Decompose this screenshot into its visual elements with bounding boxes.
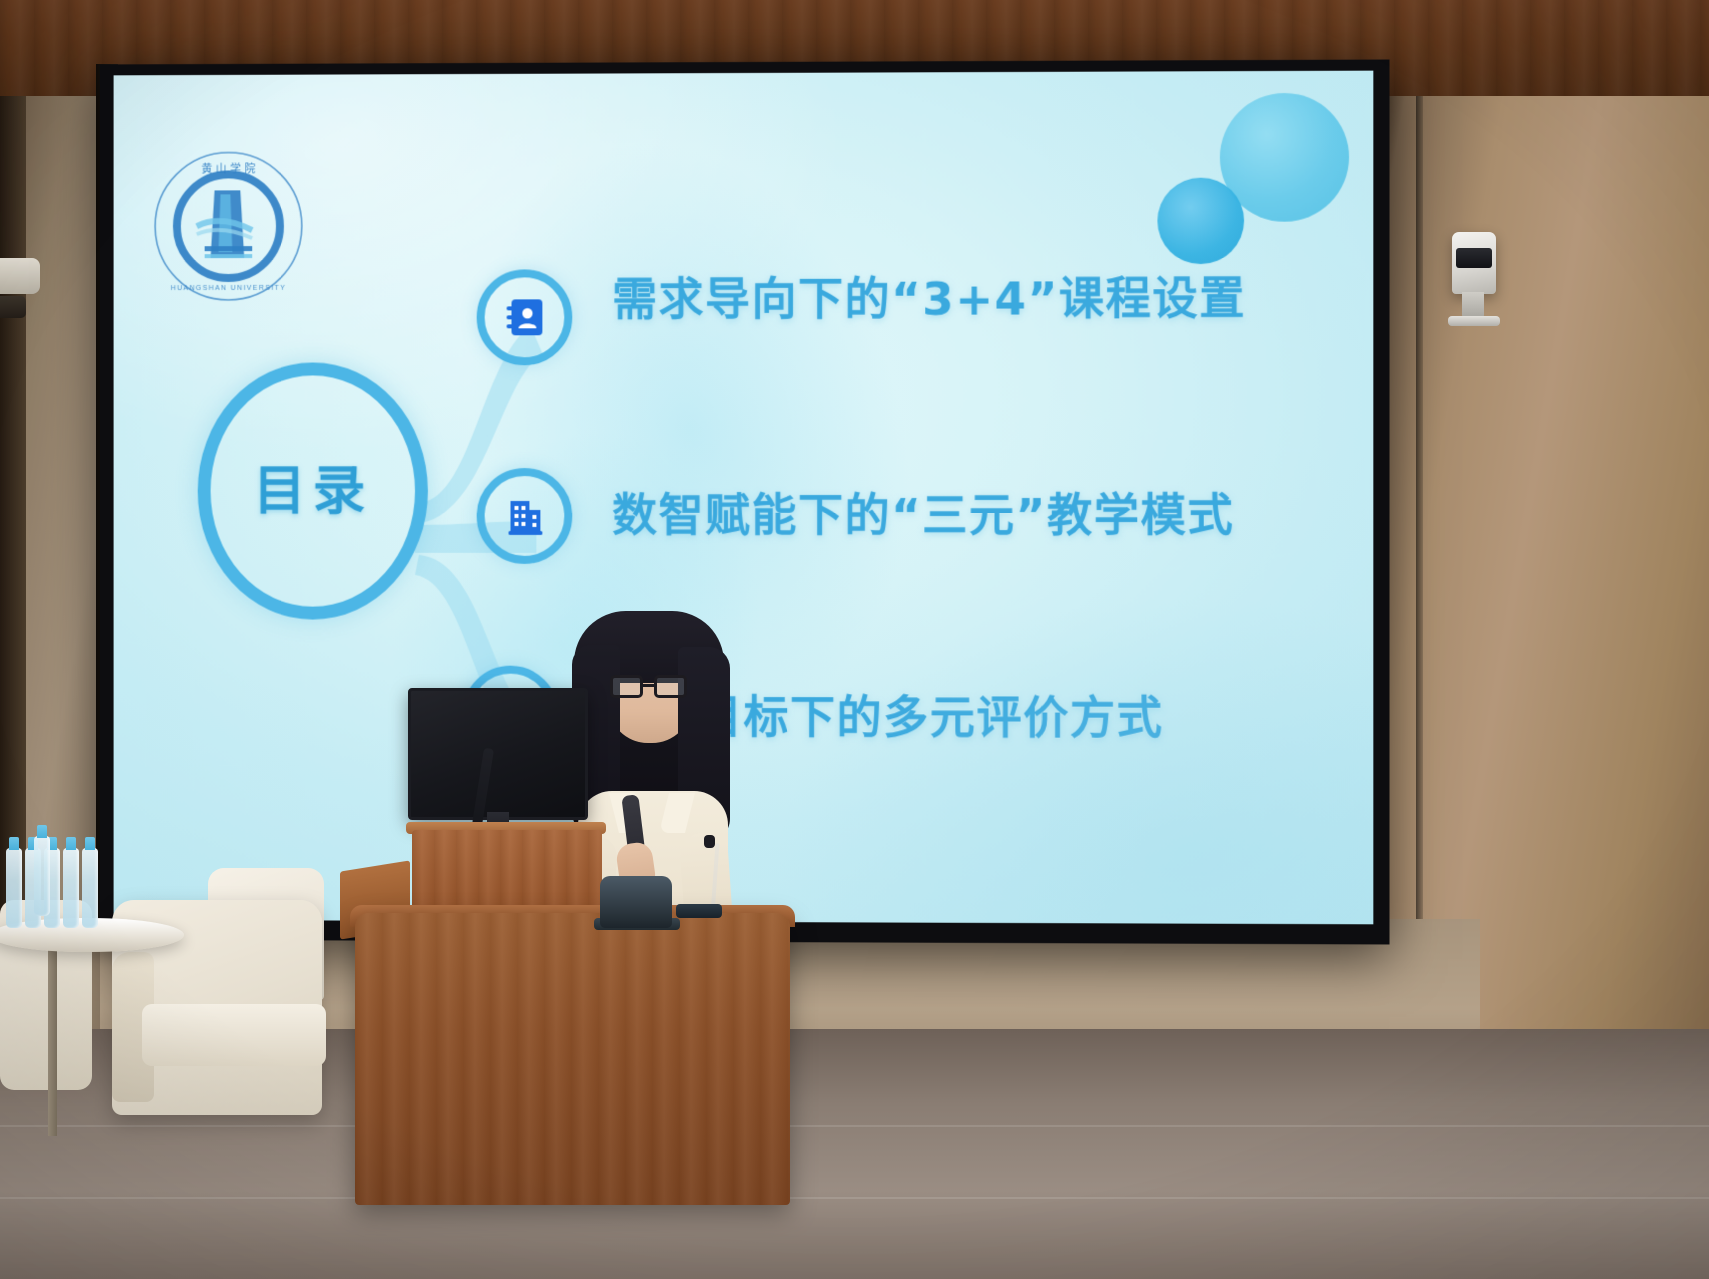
floor-seam [0,1197,1709,1199]
toc-item-1-text: 需求导向下的“3+4”课程设置 [612,262,1246,328]
toc-item-3-circle[interactable] [463,666,559,762]
floor [0,1029,1709,1279]
wall-fixture [0,258,40,294]
projection-screen: 黄 山 学 院 HUANGSHAN UNIVERSITY 目录 [114,71,1374,925]
toc-item-1-circle[interactable] [477,269,573,365]
university-crest-icon: 黄 山 学 院 HUANGSHAN UNIVERSITY [149,146,308,306]
huangshan-university-logo: 黄 山 学 院 HUANGSHAN UNIVERSITY [149,146,308,306]
toc-item-2-text: 数智赋能下的“三元”教学模式 [612,479,1234,544]
decorative-swoosh [346,71,1056,876]
presentation-slide: 黄 山 学 院 HUANGSHAN UNIVERSITY 目录 [114,71,1374,925]
conference-room: 黄 山 学 院 HUANGSHAN UNIVERSITY 目录 [0,0,1709,1279]
building-icon [503,494,547,538]
svg-text:HUANGSHAN UNIVERSITY: HUANGSHAN UNIVERSITY [171,285,286,292]
floor-seam [0,1125,1709,1127]
toc-item-3-text: 素养目标下的多元评价方式 [604,681,1163,747]
toc-item-2-circle[interactable] [477,468,573,564]
toc-label: 目录 [253,465,372,518]
bar-chart-icon [489,692,533,736]
toc-circle: 目录 [198,362,428,619]
projection-screen-frame: 黄 山 学 院 HUANGSHAN UNIVERSITY 目录 [100,60,1390,945]
wall-fixture-shadow [0,296,26,318]
svg-text:黄 山 学 院: 黄 山 学 院 [201,161,255,175]
contact-book-icon [503,295,547,339]
decorative-circle-icon [1157,178,1244,265]
